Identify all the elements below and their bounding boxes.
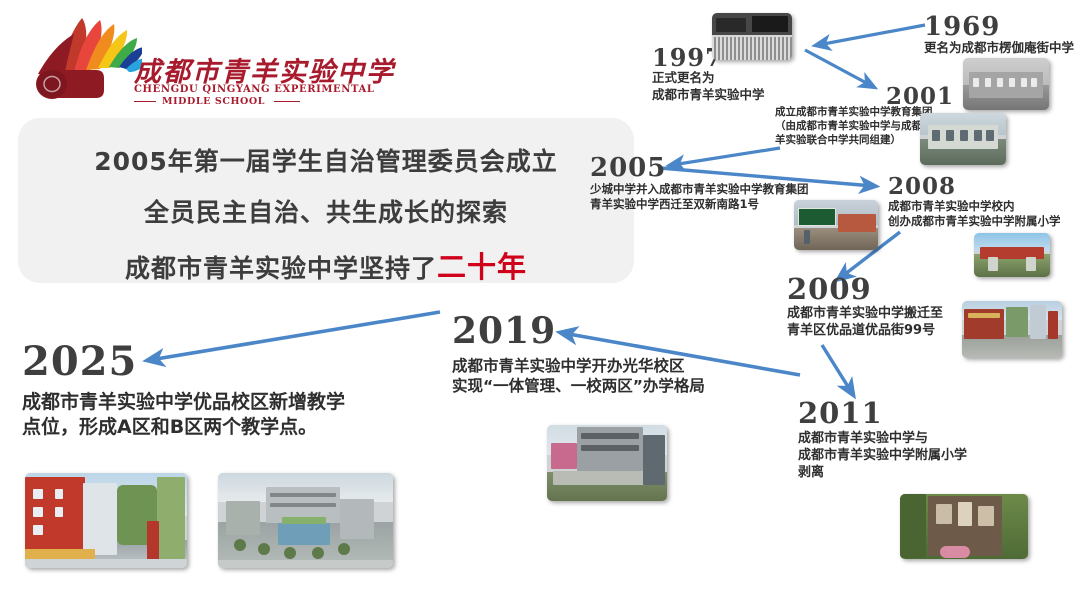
desc-2008: 成都市青羊实验中学校内 创办成都市青羊实验中学附属小学 <box>888 199 1061 229</box>
photo-2019-guanghua-campus <box>547 425 667 501</box>
headline-panel: 2005年第一届学生自治管理委员会成立 全员民主自治、共生成长的探索 成都市青羊… <box>18 118 634 283</box>
desc-2005: 少城中学并入成都市青羊实验中学教育集团 青羊实验中学西迁至双新南路1号 <box>590 182 809 212</box>
logo-school-name-en-line2: MIDDLE SCHOOL <box>162 96 265 107</box>
photo-2025-red-building-campus <box>25 473 187 568</box>
desc-2009: 成都市青羊实验中学搬迁至 青羊区优品道优品街99号 <box>787 305 943 339</box>
desc-2011: 成都市青羊实验中学与 成都市青羊实验中学附属小学 剥离 <box>798 430 967 481</box>
year-2011: 2011 <box>798 396 883 430</box>
year-2019: 2019 <box>452 310 556 352</box>
year-2008: 2008 <box>888 173 956 200</box>
desc-2019: 成都市青羊实验中学开办光华校区 实现“一体管理、一校两区”办学格局 <box>452 356 705 397</box>
logo-school-name-en-line1: CHENGDU QINGYANG EXPERIMENTAL <box>134 84 375 95</box>
photo-2025-aerial-rendering <box>218 473 393 568</box>
arrow-1969-to-1997 <box>818 25 925 45</box>
photo-2005-school-gate-sign <box>794 200 878 250</box>
photo-2011-campus-wall <box>900 494 1028 559</box>
open-book-rainbow-logo-icon <box>22 6 142 106</box>
arrow-2019-to-2025 <box>150 312 440 360</box>
photo-2009-youpin-campus-gate <box>962 301 1062 358</box>
headline-line-3-prefix: 成都市青羊实验中学坚持了 <box>125 254 437 283</box>
desc-2025: 成都市青羊实验中学优品校区新增教学 点位，形成A区和B区两个教学点。 <box>22 390 345 440</box>
logo-divider-right <box>274 101 300 102</box>
arrow-1969-to-2001 <box>805 50 872 86</box>
desc-1969: 更名为成都市楞伽庵街中学 <box>924 40 1074 57</box>
year-2025: 2025 <box>22 338 137 385</box>
photo-1969-old-school-building <box>963 58 1049 110</box>
school-logo: 成都市青羊实验中学 CHENGDU QINGYANG EXPERIMENTAL … <box>22 6 322 106</box>
arrow-2009-to-2011 <box>822 345 852 393</box>
year-1969: 1969 <box>924 12 1000 42</box>
logo-divider-left <box>134 101 156 102</box>
desc-1997: 正式更名为 成都市青羊实验中学 <box>652 70 765 103</box>
year-2005: 2005 <box>590 153 666 183</box>
arrow-2001-to-2005 <box>672 148 780 165</box>
timeline-poster: 成都市青羊实验中学 CHENGDU QINGYANG EXPERIMENTAL … <box>0 0 1080 608</box>
photo-2008-primary-school-gate <box>974 233 1050 277</box>
desc-2001: 成立成都市青羊实验中学教育集团 （由成都市青羊实验中学与成都市青 羊实验联合中学… <box>775 106 943 148</box>
headline-highlight-twenty-years: 二十年 <box>437 250 527 284</box>
headline-line-1: 2005年第一届学生自治管理委员会成立 <box>18 142 634 178</box>
photo-1997-group-photo <box>712 13 792 60</box>
photo-2001-campus <box>920 113 1006 165</box>
year-2009: 2009 <box>787 272 872 306</box>
headline-line-3: 成都市青羊实验中学坚持了二十年 <box>18 244 634 286</box>
headline-line-2: 全员民主自治、共生成长的探索 <box>18 193 634 229</box>
